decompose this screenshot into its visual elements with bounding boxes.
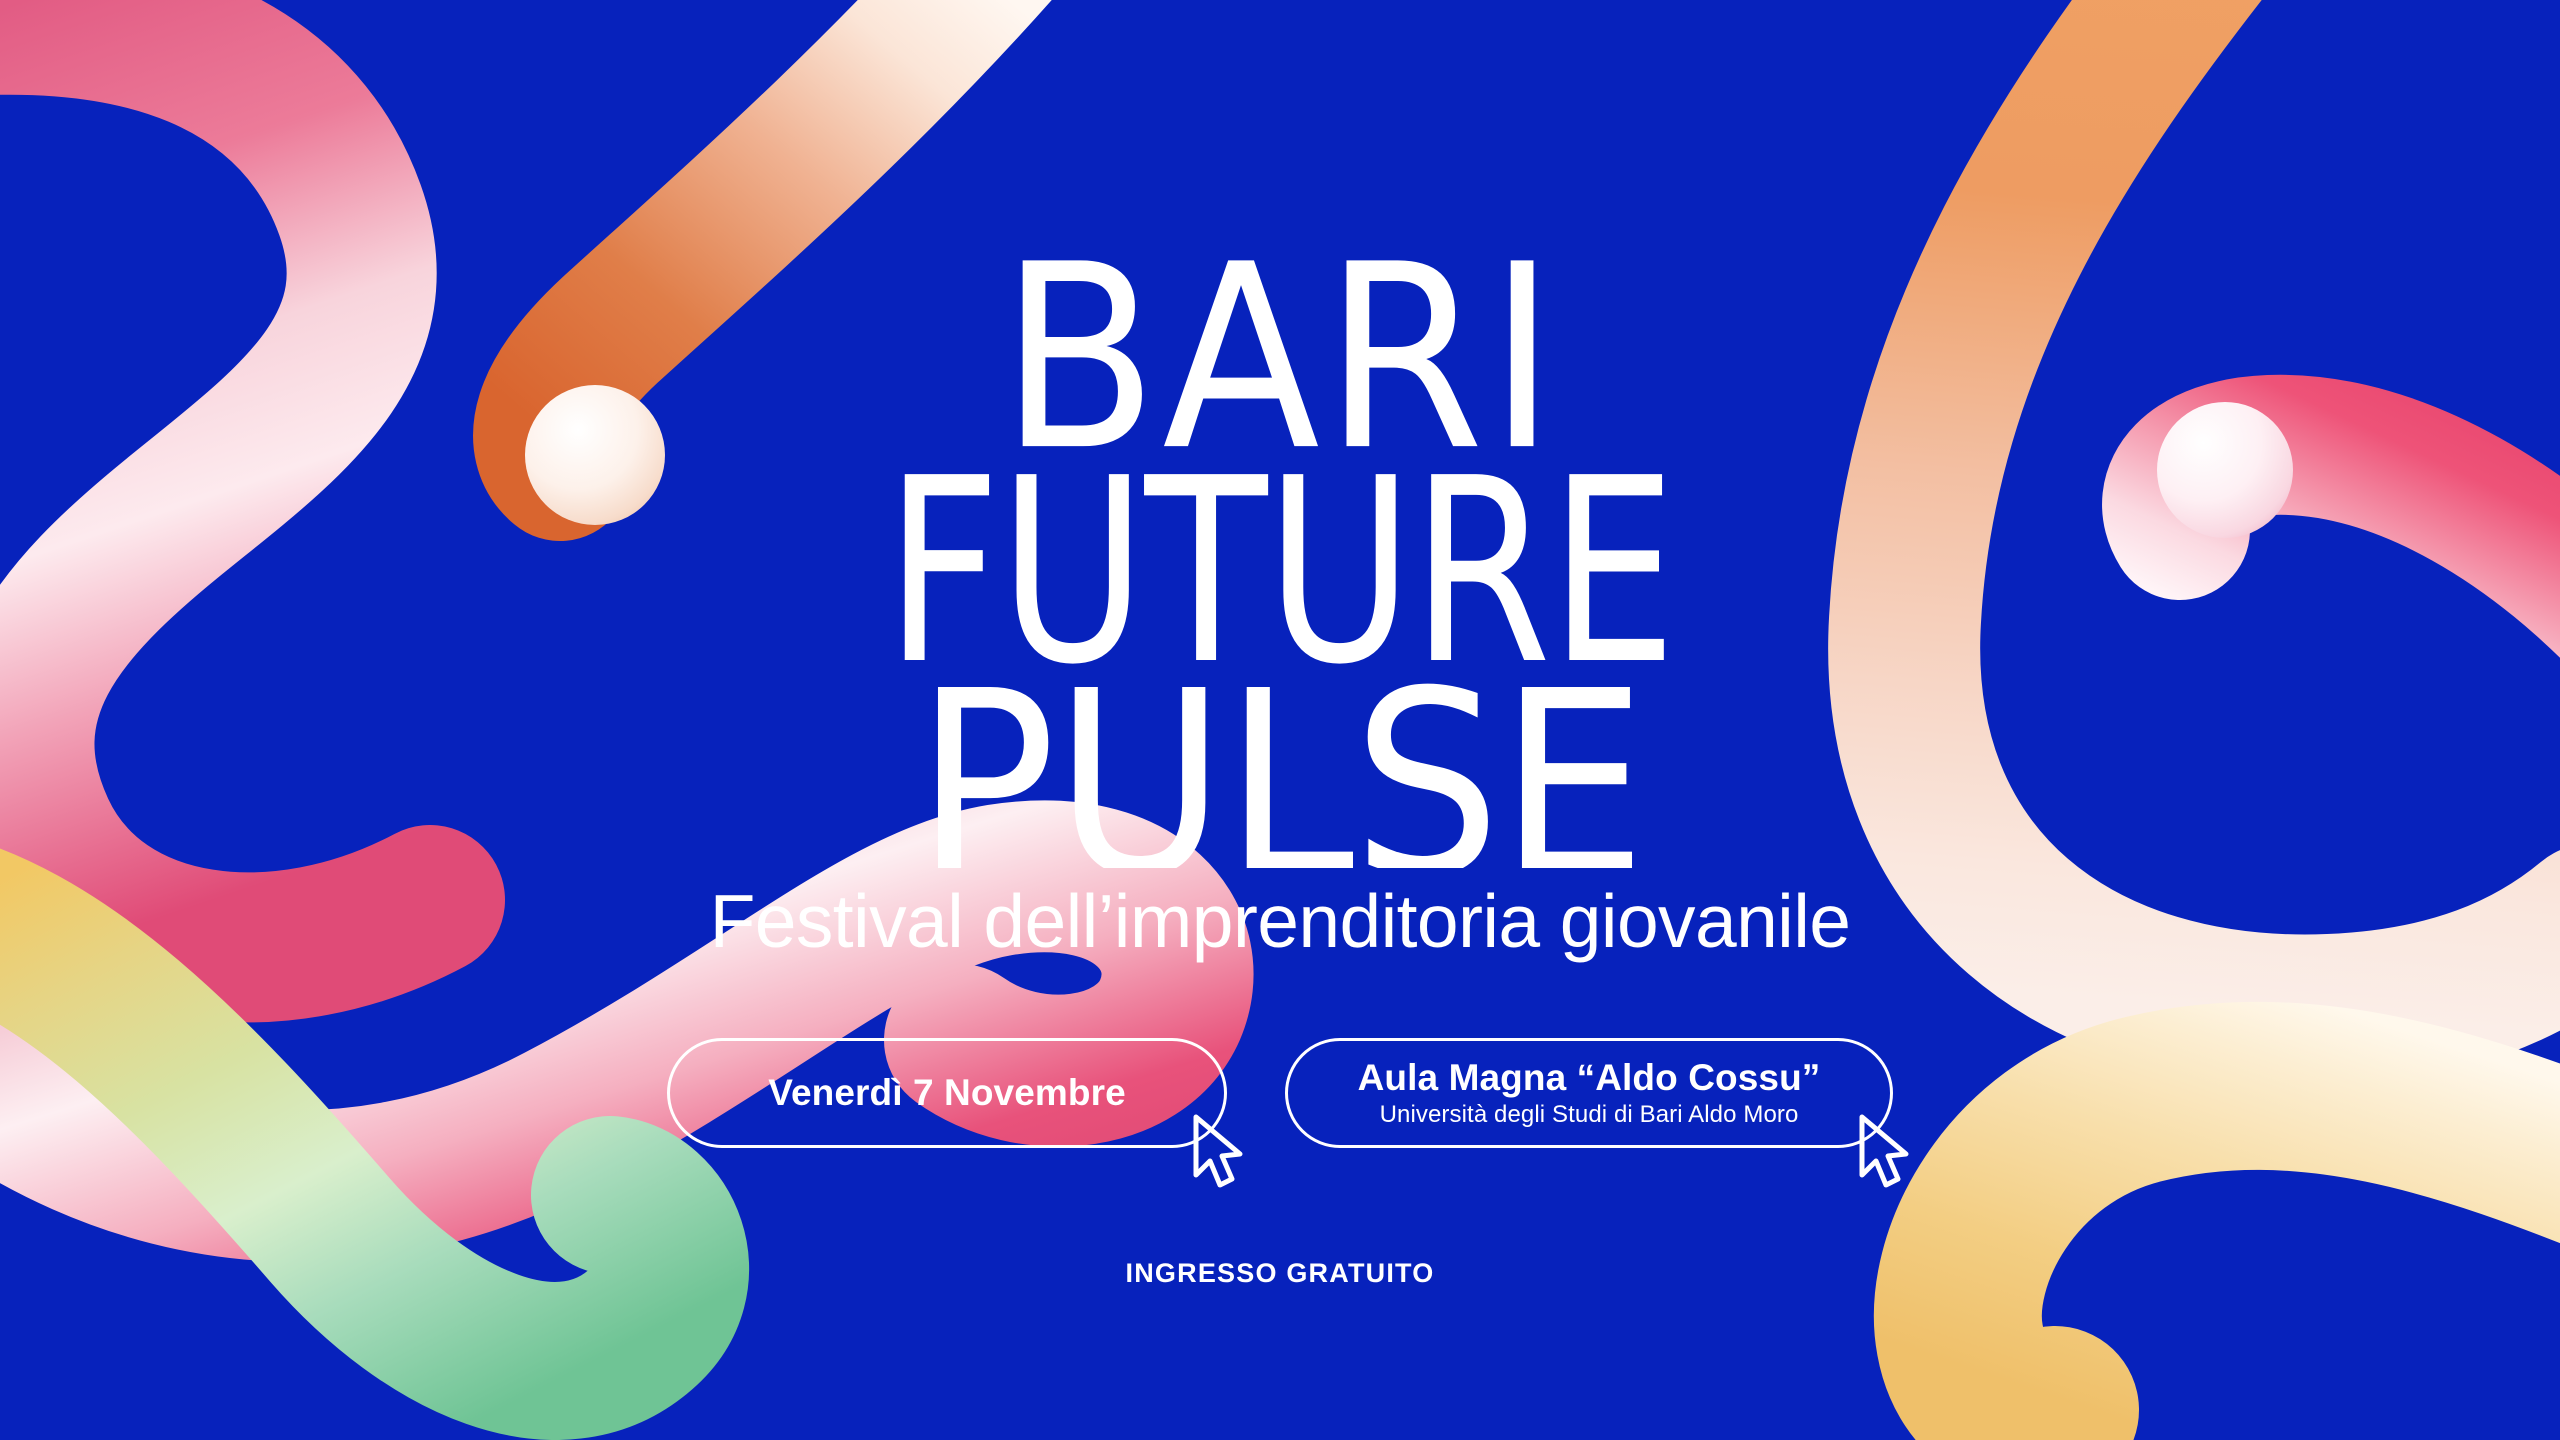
page-title: BARI FUTURE PULSE (780, 228, 1780, 868)
venue-pill[interactable]: Aula Magna “Aldo Cossu” Università degli… (1285, 1038, 1893, 1148)
title-lettering: BARI FUTURE PULSE (780, 228, 1780, 868)
info-pill-row: Venerdì 7 Novembre Aula Magna “Aldo Coss… (667, 1038, 1893, 1148)
mouse-pointer-icon (1190, 1113, 1246, 1191)
date-pill-label: Venerdì 7 Novembre (768, 1072, 1126, 1113)
poster-canvas: BARI FUTURE PULSE Festival dell’imprendi… (0, 0, 2560, 1440)
free-entry-note: INGRESSO GRATUITO (1126, 1258, 1435, 1289)
title-line-3: PULSE (915, 636, 1645, 868)
venue-pill-sublabel: Università degli Studi di Bari Aldo Moro (1380, 1101, 1799, 1129)
subtitle: Festival dell’imprenditoria giovanile (430, 882, 2130, 961)
date-pill[interactable]: Venerdì 7 Novembre (667, 1038, 1227, 1148)
mouse-pointer-icon (1856, 1113, 1912, 1191)
venue-pill-label: Aula Magna “Aldo Cossu” (1358, 1057, 1821, 1098)
